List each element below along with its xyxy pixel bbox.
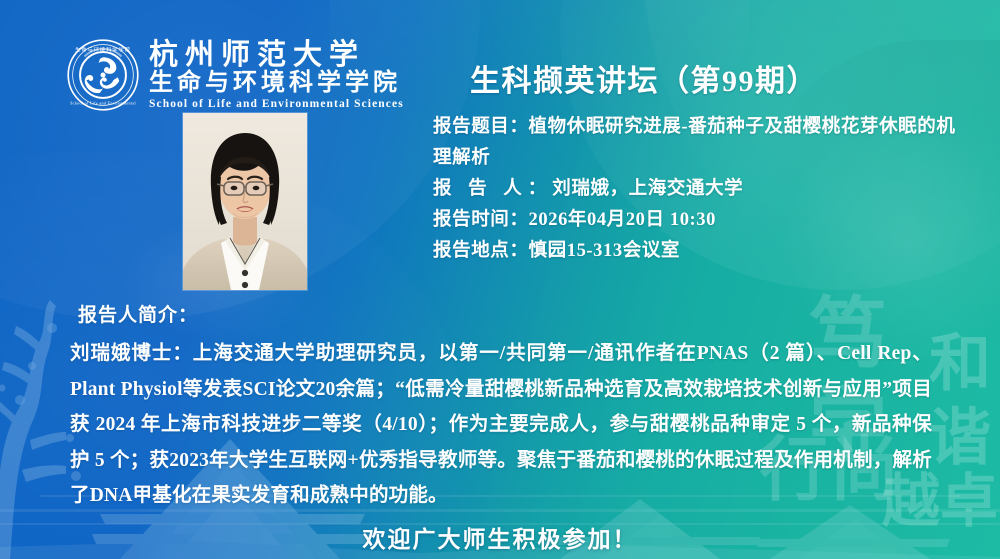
hznu-emblem-icon: 生命与环境科学学院 School of Life and Environment… — [66, 38, 140, 112]
lecture-info-block: 报告题目：植物休眠研究进展-番茄种子及甜樱桃花芽休眠的机理解析 报 告 人：刘瑞… — [433, 112, 973, 267]
logo-english-name: School of Life and Environmental Science… — [149, 98, 404, 110]
info-place: 报告地点：慎园15-313会议室 — [433, 236, 973, 267]
info-topic-label: 报告题目： — [433, 117, 529, 137]
bio-body: 刘瑞娥博士：上海交通大学助理研究员，以第一/共同第一/通讯作者在PNAS（2 篇… — [70, 336, 932, 514]
info-time: 报告时间：2026年04月20日 10:30 — [433, 205, 973, 236]
call-to-action: 欢迎广大师生积极参加！ — [0, 520, 1000, 554]
info-topic: 报告题目：植物休眠研究进展-番茄种子及甜樱桃花芽休眠的机理解析 — [433, 112, 973, 174]
svg-text:School of Life and Environment: School of Life and Environmental — [70, 101, 136, 106]
info-speaker-value: 刘瑞娥，上海交通大学 — [552, 179, 743, 199]
bio-heading: 报告人简介： — [78, 300, 198, 327]
logo-college-name: 生命与环境科学学院 — [149, 70, 404, 96]
info-time-label: 报告时间： — [433, 210, 529, 230]
info-time-value: 2026年04月20日 10:30 — [529, 210, 717, 230]
info-speaker: 报 告 人：刘瑞娥，上海交通大学 — [433, 174, 973, 205]
page-title: 生科撷英讲坛（第99期） — [470, 56, 940, 100]
logo-university-name: 杭州师范大学 — [149, 40, 404, 70]
speaker-portrait — [183, 113, 307, 290]
info-place-value: 慎园15-313会议室 — [529, 241, 681, 261]
lecture-poster: 笃学 尚行 和谐 卓越 生命与环境科学学院 School of Life and… — [0, 0, 1000, 559]
info-speaker-label: 报 告 人： — [433, 179, 552, 199]
info-place-label: 报告地点： — [433, 241, 529, 261]
logo-wordmark: 杭州师范大学 生命与环境科学学院 School of Life and Envi… — [149, 40, 404, 111]
speaker-portrait-image — [183, 113, 307, 290]
university-logo: 生命与环境科学学院 School of Life and Environment… — [66, 38, 404, 112]
